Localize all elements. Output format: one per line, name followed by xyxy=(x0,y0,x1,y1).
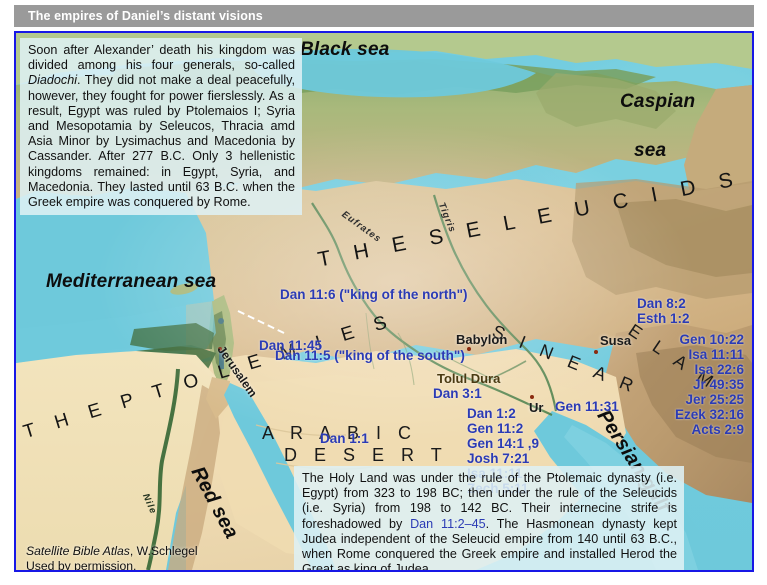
map-credit-line1: Satellite Bible Atlas, W.Schlegel xyxy=(26,544,198,559)
ref-elam-list[interactable]: Gen 10:22 Isa 11:11 Isa 22:6 Jr 49:35 Je… xyxy=(647,332,744,437)
ref-isa-22-6[interactable]: Isa 22:6 xyxy=(647,362,744,377)
infobox-diadochi: Soon after Alexander’ death his kingdom … xyxy=(20,38,302,215)
city-dot-ur xyxy=(530,395,534,399)
title-bar: The empires of Daniel’s distant visions xyxy=(14,5,754,27)
label-susa: Susa xyxy=(600,333,631,348)
label-black-sea: Black sea xyxy=(300,39,389,61)
label-mediterranean-sea: Mediterranean sea xyxy=(46,271,216,293)
ref-isa-11-11[interactable]: Isa 11:11 xyxy=(647,347,744,362)
ref-gen-10-22[interactable]: Gen 10:22 xyxy=(647,332,744,347)
infobox-holy-land: The Holy Land was under the rule of the … xyxy=(294,466,684,570)
map-credit-line2: Used by permission. xyxy=(26,559,198,570)
ref-ezek-32-16[interactable]: Ezek 32:16 xyxy=(647,407,744,422)
map-credit-author: , W.Schlegel xyxy=(130,544,198,558)
city-dot-susa xyxy=(594,350,598,354)
ref-jer-25-25[interactable]: Jer 25:25 xyxy=(647,392,744,407)
ref-dan-11-45[interactable]: Dan 11:45 xyxy=(259,338,322,353)
ref-acts-2-9[interactable]: Acts 2:9 xyxy=(647,422,744,437)
infobox-diadochi-italic: Diadochi xyxy=(28,73,77,87)
label-tolul-dura: Tolul Dura xyxy=(437,371,500,386)
label-desert: D E S E R T xyxy=(284,445,448,466)
infobox-diadochi-text-2: . They did not make a deal peacefully, h… xyxy=(28,73,295,209)
map-frame[interactable]: Black sea Caspian sea Mediterranean sea … xyxy=(14,31,754,572)
ref-center-0[interactable]: Dan 1:2 xyxy=(467,406,539,421)
map-canvas[interactable]: Black sea Caspian sea Mediterranean sea … xyxy=(16,33,752,570)
ref-dan-3-1[interactable]: Dan 3:1 xyxy=(433,386,482,401)
ref-jr-49-35[interactable]: Jr 49:35 xyxy=(647,377,744,392)
ref-elam-top-list[interactable]: Dan 8:2 Esth 1:2 xyxy=(637,296,690,326)
ref-center-3[interactable]: Josh 7:21 xyxy=(467,451,539,466)
ref-esth-1-2[interactable]: Esth 1:2 xyxy=(637,311,690,326)
ref-center-2[interactable]: Gen 14:1 ,9 xyxy=(467,436,539,451)
ref-center-1[interactable]: Gen 11:2 xyxy=(467,421,539,436)
map-credit-source: Satellite Bible Atlas xyxy=(26,544,130,558)
map-credit: Satellite Bible Atlas, W.Schlegel Used b… xyxy=(26,544,198,570)
screenshot-root: The empires of Daniel’s distant visions xyxy=(0,0,767,585)
ref-dan-8-2[interactable]: Dan 8:2 xyxy=(637,296,690,311)
page-title: The empires of Daniel’s distant visions xyxy=(14,9,263,23)
ref-dan-1-1[interactable]: Dan 1:1 xyxy=(320,431,369,446)
label-caspian-sea-line2: sea xyxy=(634,140,666,162)
city-dot-babylon xyxy=(467,347,471,351)
label-caspian-sea-line1: Caspian xyxy=(620,91,695,113)
ref-gen-11-31[interactable]: Gen 11:31 xyxy=(555,399,619,414)
ref-dan-11-6-north[interactable]: Dan 11:6 ("king of the north") xyxy=(280,287,468,302)
label-babylon: Babylon xyxy=(456,332,507,347)
infobox-diadochi-text-1: Soon after Alexander’ death his kingdom … xyxy=(28,43,295,72)
infobox-holy-land-reflink[interactable]: Dan 11:2–45 xyxy=(410,517,486,531)
